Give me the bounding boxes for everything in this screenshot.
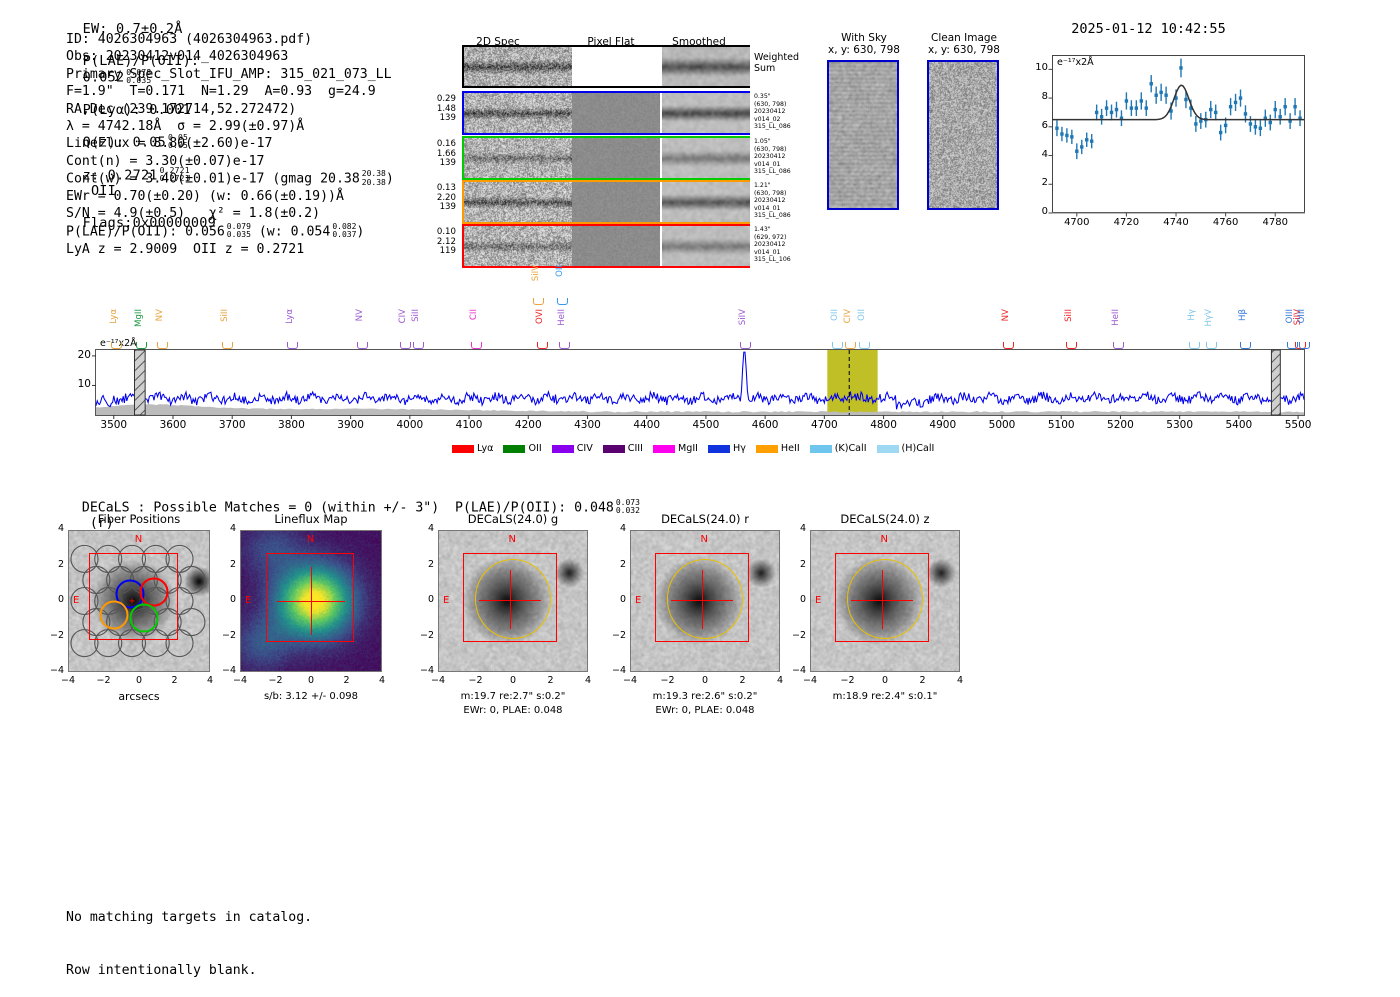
fiber-center-marker: + (129, 598, 136, 605)
line-label-oii-16: OII (858, 309, 867, 321)
fiber-3-left-labels: 0.132.20139 (422, 184, 456, 213)
legend-swatch (653, 445, 675, 453)
line-label-hγv-21: HγV (1205, 309, 1214, 326)
panel-5-xtick: −2 (840, 675, 854, 686)
panel-3-ytick: 0 (414, 594, 434, 605)
panel-4-ytick: 2 (606, 559, 626, 570)
fiber-meta-value: (630, 798) (754, 146, 814, 154)
line-fit-ytick: 8 (1028, 91, 1048, 102)
cutout-title-text: Clean Image (899, 32, 1029, 44)
line-bracket-9 (537, 342, 548, 349)
footer-line-1: No matching targets in catalog. (66, 909, 312, 927)
panel-5-compass-e: E (815, 595, 821, 606)
fiber-meta-value: 315_LL_086 (754, 123, 814, 131)
line-fit-axes (1052, 55, 1305, 213)
fiber-meta-value: 1.43" (754, 226, 814, 234)
legend-swatch (452, 445, 474, 453)
spec2d-fiber-row-2 (462, 136, 750, 180)
panel-5-xtick: 4 (957, 675, 963, 686)
fiber-2-pixelflat (572, 138, 660, 178)
fiber-label-value: 139 (422, 114, 456, 124)
legend-label: HeII (781, 443, 800, 454)
line-fit-xtick: 4700 (1064, 217, 1089, 228)
header-timestamp: 2025-01-12 10:42:55 (1071, 21, 1225, 37)
panel-2-xtick: −4 (233, 675, 247, 686)
panel-1-xtick: −4 (61, 675, 75, 686)
line-bracket-3 (222, 342, 233, 349)
spectrum-xtick: 3500 (100, 419, 127, 431)
line-bracket-4 (287, 342, 298, 349)
panel-3-xtick: 4 (585, 675, 591, 686)
spectrum-ytick: 10 (66, 378, 91, 390)
panel-4-compass-e: E (635, 595, 641, 606)
panel-5-xtick: −4 (803, 675, 817, 686)
fiber-meta-value: 20230412 (754, 108, 814, 116)
fiber-4-pixelflat (572, 226, 660, 266)
spectrum-xtick: 4800 (870, 419, 897, 431)
panel-2-ytick: −2 (216, 630, 236, 641)
panel-4-xtick: 4 (777, 675, 783, 686)
spec2d-fiber-row-4 (462, 224, 750, 268)
legend-label: Hγ (733, 443, 746, 454)
line-bracket-14 (832, 342, 843, 349)
line-bracket-20 (1189, 342, 1200, 349)
panel-2-image (240, 530, 382, 672)
fiber-label-value: 139 (422, 159, 456, 169)
panel-2-ytick: 2 (216, 559, 236, 570)
line-bracket-22 (1240, 342, 1251, 349)
panel-3-compass-e: E (443, 595, 449, 606)
line-bracket-25 (1299, 342, 1310, 349)
panel-3-compass-n: N (509, 534, 516, 545)
panel-2-ytick: 4 (216, 523, 236, 534)
panel-5-title: DECaLS(24.0) z (780, 512, 990, 526)
spectrum-xtick: 5200 (1107, 419, 1134, 431)
fiber-meta-value: 20230412 (754, 197, 814, 205)
panel-4-xtick: 0 (702, 675, 708, 686)
panel-2-title: Lineflux Map (210, 512, 412, 526)
spectrum-xtick: 5500 (1285, 419, 1312, 431)
fiber-1-pixelflat (572, 93, 660, 133)
fiber-3-smoothed (662, 182, 750, 222)
panel-3-ewr-plae: EWr: 0, PLAE: 0.048 (408, 705, 618, 718)
legend-item-ly: Lyα (452, 443, 493, 454)
line-label-nv-5: NV (356, 309, 365, 321)
fiber-meta-value: 0.35" (754, 93, 814, 101)
fiber-1-left-labels: 0.291.48139 (422, 95, 456, 124)
panel-5-xtick: 0 (882, 675, 888, 686)
line-bracket-16 (859, 342, 870, 349)
panel-1-compass-n: N (135, 534, 142, 545)
line-label-siiv-13: SiIV (739, 309, 748, 325)
panel-1-ytick: 2 (44, 559, 64, 570)
panel-3-ytick: 4 (414, 523, 434, 534)
panel-1-xtick: 0 (136, 675, 142, 686)
legend-swatch (603, 445, 625, 453)
legend-item-kcali: (K)CalI (810, 443, 867, 454)
panel-4-title: DECaLS(24.0) r (600, 512, 810, 526)
panel-1-ytick: 0 (44, 594, 64, 605)
spectrum-xtick: 3800 (278, 419, 305, 431)
line-bracket-21 (1206, 342, 1217, 349)
info-radec: RA,Dec (239.172714,52.272472) (66, 101, 394, 118)
line-label-oii-12: OII (556, 265, 565, 277)
fiber-3-2dspec (464, 182, 572, 222)
spectrum-xtick: 3600 (160, 419, 187, 431)
info-cont-n: Cont(n) = 3.30(±0.07)e-17 (66, 153, 394, 170)
line-label-civ-6: CIV (399, 309, 408, 323)
legend-swatch (503, 445, 525, 453)
legend-item-heii: HeII (756, 443, 800, 454)
panel-5-image (810, 530, 960, 672)
weighted-sum-smoothed (662, 47, 750, 86)
panel-5-compass-n: N (881, 534, 888, 545)
legend-label: CIII (628, 443, 643, 454)
line-label-oiii-25: OIII (1298, 309, 1307, 323)
panel-2-xtick: 2 (343, 675, 349, 686)
panel-3-xtick: 2 (547, 675, 553, 686)
info-lineflux: LineFlux = 8.80(±2.60)e-17 (66, 135, 394, 152)
panel-2-xtick: −2 (268, 675, 282, 686)
spectrum-xtick: 4700 (811, 419, 838, 431)
line-fit-xtick: 4780 (1263, 217, 1288, 228)
info-cont-w: Cont(w) = 3.40(±0.01)e-17 (gmag 20.3820.… (66, 170, 394, 188)
lineflux-crosshair-h (277, 601, 344, 602)
panel-1-ytick: 4 (44, 523, 64, 534)
info-gmag-range: 20.3820.38 (362, 170, 386, 187)
spectrum-xtick: 4300 (574, 419, 601, 431)
panel-3-title: DECaLS(24.0) g (408, 512, 618, 526)
line-bracket-8 (471, 342, 482, 349)
footer-note: No matching targets in catalog. Row inte… (66, 874, 312, 997)
weighted-sum-label: Weighted Sum (754, 52, 799, 74)
info-ewr: EWr = 0.70(±0.20) (w: 0.66(±0.19))Å (66, 188, 394, 205)
panel-3-crosshair-h (479, 600, 541, 601)
fiber-4-left-labels: 0.102.12119 (422, 228, 456, 257)
fiber-meta-value: (629, 972) (754, 234, 814, 242)
legend-swatch (810, 445, 832, 453)
spectrum-xtick: 4600 (752, 419, 779, 431)
line-bracket-1 (136, 342, 147, 349)
legend-swatch (877, 445, 899, 453)
line-bracket-5 (357, 342, 368, 349)
line-fit-xtick: 4740 (1163, 217, 1188, 228)
spectrum-xtick: 4400 (633, 419, 660, 431)
panel-5-ytick: −2 (786, 630, 806, 641)
panel-1-xtick: 2 (171, 675, 177, 686)
line-bracket-7 (413, 342, 424, 349)
fiber-3-pixelflat (572, 182, 660, 222)
fiber-meta-value: v014_01 (754, 161, 814, 169)
legend-label: (H)CalI (902, 443, 935, 454)
info-obs: Obs: 20230412v014_4026304963 (66, 48, 394, 65)
fiber-meta-value: 1.05" (754, 138, 814, 146)
line-bracket-10 (559, 342, 570, 349)
line-bracket-19 (1113, 342, 1124, 349)
fiber-meta-value: 315_LL_086 (754, 212, 814, 220)
panel-2-xtick: 0 (308, 675, 314, 686)
legend-item-mgii: MgII (653, 443, 698, 454)
fiber-meta-value: 315_LL_106 (754, 256, 814, 264)
panel-1-xtick: 4 (207, 675, 213, 686)
line-label-hγ-20: Hγ (1188, 309, 1197, 321)
cutout-2-title: Clean Imagex, y: 630, 798 (899, 32, 1029, 56)
spec2d-fiber-row-3 (462, 180, 750, 224)
spec2d-fiber-row-1 (462, 91, 750, 135)
fiber-meta-value: v014_01 (754, 205, 814, 213)
spectrum-xtick: 5000 (989, 419, 1016, 431)
legend-swatch (708, 445, 730, 453)
info-id: ID: 4026304963 (4026304963.pdf) (66, 31, 394, 48)
line-fit-xtick: 4720 (1114, 217, 1139, 228)
panel-2-ytick: 0 (216, 594, 236, 605)
spectrum-xtick: 4100 (456, 419, 483, 431)
line-fit-ytick: 0 (1028, 206, 1048, 217)
fiber-meta-value: 20230412 (754, 153, 814, 161)
line-label-civ-15: CIV (844, 309, 853, 323)
legend-item-oii: OII (503, 443, 541, 454)
panel-1-ytick: −2 (44, 630, 64, 641)
fiber-2-2dspec (464, 138, 572, 178)
fiber-4-2dspec (464, 226, 572, 266)
panel-1-image: + (68, 530, 210, 672)
spectrum-xtick: 5100 (1048, 419, 1075, 431)
source-info-block: ID: 4026304963 (4026304963.pdf) Obs: 202… (66, 31, 394, 258)
cutout-2-image (927, 60, 999, 210)
fiber-meta-value: (630, 798) (754, 101, 814, 109)
panel-5-ytick: 0 (786, 594, 806, 605)
cutout-1-image (827, 60, 899, 210)
line-label-ovi-9: OVI (536, 309, 545, 324)
legend-label: OII (528, 443, 541, 454)
line-fit-ytick: 10 (1028, 62, 1048, 73)
panel-1-compass-e: E (73, 595, 79, 606)
legend-swatch (552, 445, 574, 453)
panel-3-stats: m:19.7 re:2.7" s:0.2" (408, 691, 618, 704)
cutout-canvas (829, 62, 897, 208)
panel-3-xtick: −2 (468, 675, 482, 686)
fiber-meta-value: 20230412 (754, 241, 814, 249)
line-fit-ytick: 2 (1028, 177, 1048, 188)
spectrum-xtick: 5400 (1225, 419, 1252, 431)
line-label-siii-3: SiII (221, 309, 230, 322)
legend-item-civ: CIV (552, 443, 593, 454)
fiber-meta-value: 315_LL_086 (754, 168, 814, 176)
fiber-meta-value: 1.21" (754, 182, 814, 190)
info-plae-w-range: 0.0820.037 (332, 223, 356, 240)
fiber-1-2dspec (464, 93, 572, 133)
panel-4-stats: m:19.3 re:2.6" s:0.2" (600, 691, 810, 704)
line-bracket-15 (845, 342, 856, 349)
legend-item-h: Hγ (708, 443, 746, 454)
line-label-lyα-4: Lyα (286, 309, 295, 324)
line-fit-units-annotation: e⁻¹⁷x2Å (1057, 57, 1094, 68)
line-label-siiv-11: SiIV (532, 265, 541, 281)
legend-label: (K)CalI (835, 443, 867, 454)
line-bracket-0 (111, 342, 122, 349)
cutout-coords: x, y: 630, 798 (899, 44, 1029, 56)
line-bracket-17 (1003, 342, 1014, 349)
legend-item-ciii: CIII (603, 443, 643, 454)
spectrum-xtick: 3700 (219, 419, 246, 431)
line-label-nv-17: NV (1002, 309, 1011, 321)
line-bracket-18 (1066, 342, 1077, 349)
panel-5-crosshair-h (851, 600, 913, 601)
fiber-2-smoothed (662, 138, 750, 178)
spectrum-xtick: 5300 (1166, 419, 1193, 431)
fiber-meta-value: (630, 798) (754, 190, 814, 198)
info-snr-chi2: S/N = 4.9(±0.5) χ² = 1.8(±0.2) (66, 205, 394, 222)
panel-3-image (438, 530, 588, 672)
legend-swatch (756, 445, 778, 453)
line-bracket-2 (157, 342, 168, 349)
fiber-2-right-labels: 1.05"(630, 798)20230412v014_01315_LL_086 (754, 138, 814, 176)
fiber-label-value: 139 (422, 203, 456, 213)
line-label-siii-7: SiII (412, 309, 421, 322)
legend-label: MgII (678, 443, 698, 454)
fiber-label-value: 119 (422, 247, 456, 257)
panel-5-stats: m:18.9 re:2.4" s:0.1" (780, 691, 990, 704)
panel-2-compass-e: E (245, 595, 251, 606)
spectrum-axes (95, 349, 1305, 416)
panel-4-ytick: 4 (606, 523, 626, 534)
legend-label: Lyα (477, 443, 493, 454)
line-label-nv-2: NV (156, 309, 165, 321)
spectrum-xtick: 3900 (337, 419, 364, 431)
spec2d-weighted-sum-row (462, 45, 750, 88)
panel-5-xtick: 2 (919, 675, 925, 686)
panel-3-xtick: −4 (431, 675, 445, 686)
line-label-lyα-0: Lyα (110, 309, 119, 324)
panel-2-xtick: 4 (379, 675, 385, 686)
info-seeing-params: F=1.9" T=0.171 N=1.29 A=0.93 g=24.9 (66, 83, 394, 100)
legend-item-hcali: (H)CalI (877, 443, 935, 454)
panel-4-xtick: −2 (660, 675, 674, 686)
fiber-2-left-labels: 0.161.66139 (422, 140, 456, 169)
fiber-3-right-labels: 1.21"(630, 798)20230412v014_01315_LL_086 (754, 182, 814, 220)
panel-4-compass-n: N (701, 534, 708, 545)
line-label-siii-18: SiII (1065, 309, 1074, 322)
line-label-cii-8: CII (470, 309, 479, 320)
line-label-hβ-22: Hβ (1239, 309, 1248, 321)
fiber-1-right-labels: 0.35"(630, 798)20230412v014_02315_LL_086 (754, 93, 814, 131)
line-fit-xtick: 4760 (1213, 217, 1238, 228)
panel-4-ewr-plae: EWr: 0, PLAE: 0.048 (600, 705, 810, 718)
legend-label: CIV (577, 443, 593, 454)
panel-3-ytick: −2 (414, 630, 434, 641)
line-label-oii-14: OII (831, 309, 840, 321)
panel-4-crosshair-h (671, 600, 733, 601)
spectrum-xtick: 4500 (693, 419, 720, 431)
panel-3-ytick: 2 (414, 559, 434, 570)
panel-4-xtick: −4 (623, 675, 637, 686)
spectrum-xtick: 4900 (929, 419, 956, 431)
line-fit-ytick: 6 (1028, 120, 1048, 131)
info-plae: P(LAE)/P(OII): 0.0560.0790.035 (w: 0.054… (66, 223, 394, 241)
line-bracket-6 (400, 342, 411, 349)
line-label-mgii-1: MgII (135, 309, 144, 327)
info-redshifts: LyA z = 2.9009 OII z = 0.2721 (66, 241, 394, 258)
panel-2-stats: s/b: 3.12 +/- 0.098 (210, 691, 412, 704)
cutout-canvas (929, 62, 997, 208)
spectrum-xtick: 4000 (396, 419, 423, 431)
footer-line-2: Row intentionally blank. (66, 962, 312, 980)
line-fit-ytick: 4 (1028, 149, 1048, 160)
line-bracket-12 (557, 298, 568, 305)
weighted-sum-2dspec (464, 47, 572, 86)
line-label-heii-19: HeII (1112, 309, 1121, 326)
panel-3-xtick: 0 (510, 675, 516, 686)
panel-4-ytick: −2 (606, 630, 626, 641)
info-primary-spec: Primary Spec_Slot_IFU_AMP: 315_021_073_L… (66, 66, 394, 83)
panel-2-compass-n: N (307, 534, 314, 545)
panel-5-ytick: 4 (786, 523, 806, 534)
spectrum-ytick: 20 (66, 349, 91, 361)
fiber-4-smoothed (662, 226, 750, 266)
panel-5-ytick: 2 (786, 559, 806, 570)
fiber-4-right-labels: 1.43"(629, 972)20230412v014_01315_LL_106 (754, 226, 814, 264)
panel-4-image (630, 530, 780, 672)
line-label-heii-10: HeII (558, 309, 567, 326)
info-plae-range: 0.0790.035 (227, 223, 251, 240)
fiber-1-smoothed (662, 93, 750, 133)
fiber-meta-value: v014_02 (754, 116, 814, 124)
panel-4-ytick: 0 (606, 594, 626, 605)
panel-1-xtick: −2 (96, 675, 110, 686)
emission-line-legend: LyαOIICIVCIIIMgIIHγHeII(K)CalI(H)CalI (452, 443, 934, 454)
info-wavelength-sigma: λ = 4742.18Å σ = 2.99(±0.97)Å (66, 118, 394, 135)
spectrum-xtick: 4200 (515, 419, 542, 431)
panel-4-xtick: 2 (739, 675, 745, 686)
fiber-meta-value: v014_01 (754, 249, 814, 257)
line-bracket-11 (533, 298, 544, 305)
line-bracket-13 (740, 342, 751, 349)
